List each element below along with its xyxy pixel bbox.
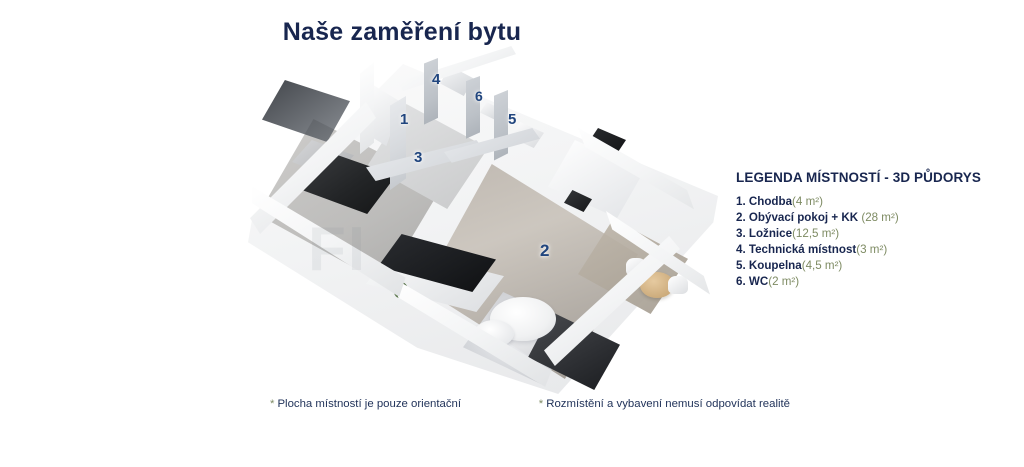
room-marker-1: 1 xyxy=(400,112,408,127)
room-marker-6: 6 xyxy=(475,89,483,103)
room-marker-3: 3 xyxy=(414,150,422,165)
legend-item-4-area: (3 m²) xyxy=(856,243,887,256)
legend-item-4: 4. Technická místnost(3 m²) xyxy=(736,242,1006,257)
legend-item-2-name: 2. Obývací pokoj + KK xyxy=(736,211,858,224)
legend-item-3: 3. Ložnice(12,5 m²) xyxy=(736,226,1006,241)
legend-item-5-area: (4,5 m²) xyxy=(802,259,843,272)
asterisk-icon: * xyxy=(539,398,543,410)
legend-title: LEGENDA MÍSTNOSTÍ - 3D PŮDORYS xyxy=(736,170,1006,185)
footnote-left-text: Plocha místností je pouze orientační xyxy=(277,398,461,410)
footnote-area-disclaimer: *Plocha místností je pouze orientační xyxy=(270,398,461,410)
legend-item-6-name: 6. WC xyxy=(736,275,768,288)
asterisk-icon: * xyxy=(270,398,274,410)
legend-item-3-name: 3. Ložnice xyxy=(736,227,792,240)
legend-item-1-name: 1. Chodba xyxy=(736,195,792,208)
legend-item-5: 5. Koupelna(4,5 m²) xyxy=(736,258,1006,273)
legend-item-1-area: (4 m²) xyxy=(792,195,823,208)
legend-item-6-area: (2 m²) xyxy=(768,275,799,288)
room-marker-4: 4 xyxy=(432,72,440,87)
legend-item-3-area: (12,5 m²) xyxy=(792,227,839,240)
legend-item-1: 1. Chodba(4 m²) xyxy=(736,194,1006,209)
legend: LEGENDA MÍSTNOSTÍ - 3D PŮDORYS 1. Chodba… xyxy=(736,170,1006,289)
footnotes: *Plocha místností je pouze orientační *R… xyxy=(270,398,790,410)
footnote-right-text: Rozmístění a vybavení nemusí odpovídat r… xyxy=(546,398,790,410)
wall-bathroom xyxy=(494,90,508,162)
legend-item-5-name: 5. Koupelna xyxy=(736,259,802,272)
legend-list: 1. Chodba(4 m²) 2. Obývací pokoj + KK (2… xyxy=(736,194,1006,289)
floorplan-3d: FI 1 2 3 4 5 6 xyxy=(248,44,718,404)
floorplan-isometric-render: FI 1 2 3 4 5 6 xyxy=(248,44,718,404)
page-title: Naše zaměření bytu xyxy=(0,18,914,47)
legend-item-2-area: (28 m²) xyxy=(858,211,899,224)
room-marker-5: 5 xyxy=(508,112,516,127)
wall-wc xyxy=(466,76,480,140)
wall-technical-room xyxy=(424,58,438,126)
legend-item-2: 2. Obývací pokoj + KK (28 m²) xyxy=(736,210,1006,225)
room-marker-2: 2 xyxy=(540,242,549,259)
footnote-furniture-disclaimer: *Rozmístění a vybavení nemusí odpovídat … xyxy=(539,398,790,410)
legend-item-4-name: 4. Technická místnost xyxy=(736,243,856,256)
legend-item-6: 6. WC(2 m²) xyxy=(736,274,1006,289)
balcony-chair-right xyxy=(668,276,688,294)
